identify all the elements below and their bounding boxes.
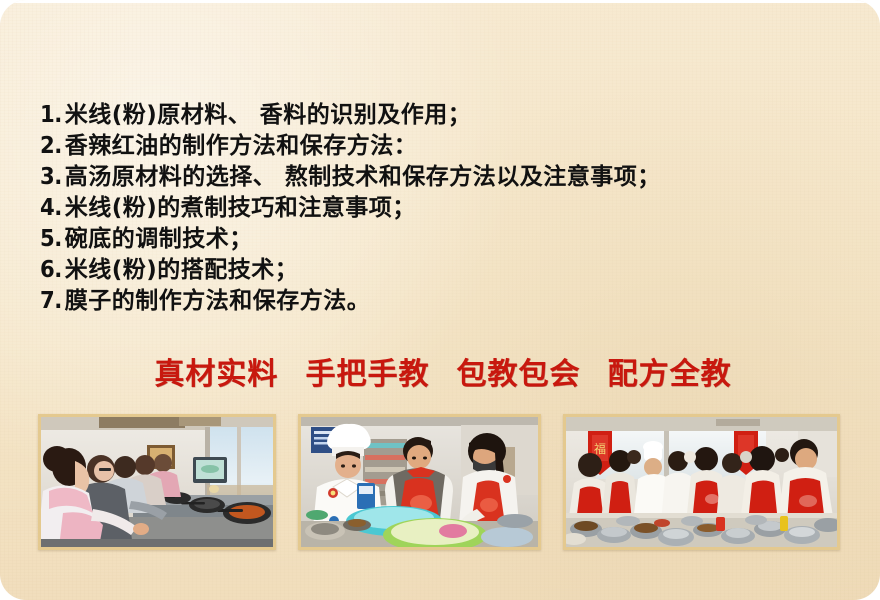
list-item-text: 香辣红油的制作方法和保存方法： [65,131,418,162]
course-content-list: 1. 米线(粉)原材料、 香料的识别及作用； 2. 香辣红油的制作方法和保存方法… [40,100,850,317]
list-item-text: 膜子的制作方法和保存方法。 [65,286,371,317]
list-item: 3. 高汤原材料的选择、 熬制技术和保存方法以及注意事项； [40,162,850,193]
slogan-phrase-1: 真材实料 [154,356,278,394]
list-item-text: 米线(粉)的搭配技术； [65,255,299,286]
list-item-number: 3. [40,162,62,193]
list-item-text: 米线(粉)原材料、 香料的识别及作用； [65,100,472,131]
slogan-phrase-2: 手把手教 [305,356,429,394]
list-item: 2. 香辣红油的制作方法和保存方法： [40,131,850,162]
list-item-number: 2. [40,131,62,162]
list-item-text: 米线(粉)的煮制技巧和注意事项； [65,193,416,224]
slogan-phrase-3: 包教包会 [457,356,581,394]
list-item-number: 7. [40,286,62,317]
slogan-banner: 真材实料 手把手教 包教包会 配方全教 [0,356,880,394]
list-item-number: 1. [40,100,62,131]
list-item: 5. 碗底的调制技术； [40,224,850,255]
list-item: 1. 米线(粉)原材料、 香料的识别及作用； [40,100,850,131]
slogan-phrase-4: 配方全教 [608,356,732,394]
list-item: 4. 米线(粉)的煮制技巧和注意事项； [40,193,850,224]
poster-canvas: 1. 米线(粉)原材料、 香料的识别及作用； 2. 香辣红油的制作方法和保存方法… [0,0,880,600]
list-item: 7. 膜子的制作方法和保存方法。 [40,286,850,317]
photo-chef-teaching: 白衣厨师长现场手把手指导两名红围裙学员 [298,414,541,550]
photo-classroom-bowls: 福 [563,414,840,550]
list-item-number: 4. [40,193,62,224]
photo-students-woks-image [41,417,273,547]
photo-classroom-bowls-image: 福 [566,417,837,547]
svg-text:福: 福 [594,441,606,456]
top-edge-strip [0,0,880,3]
list-item-text: 高汤原材料的选择、 熬制技术和保存方法以及注意事项； [65,162,661,193]
photo-strip: 学员排排站在灶台前用铁锅炒制练习 [38,414,840,550]
list-item-text: 碗底的调制技术； [65,224,253,255]
photo-students-woks: 学员排排站在灶台前用铁锅炒制练习 [38,414,276,550]
list-item-number: 6. [40,255,62,286]
photo-chef-teaching-image [301,417,538,547]
list-item: 6. 米线(粉)的搭配技术； [40,255,850,286]
list-item-number: 5. [40,224,62,255]
